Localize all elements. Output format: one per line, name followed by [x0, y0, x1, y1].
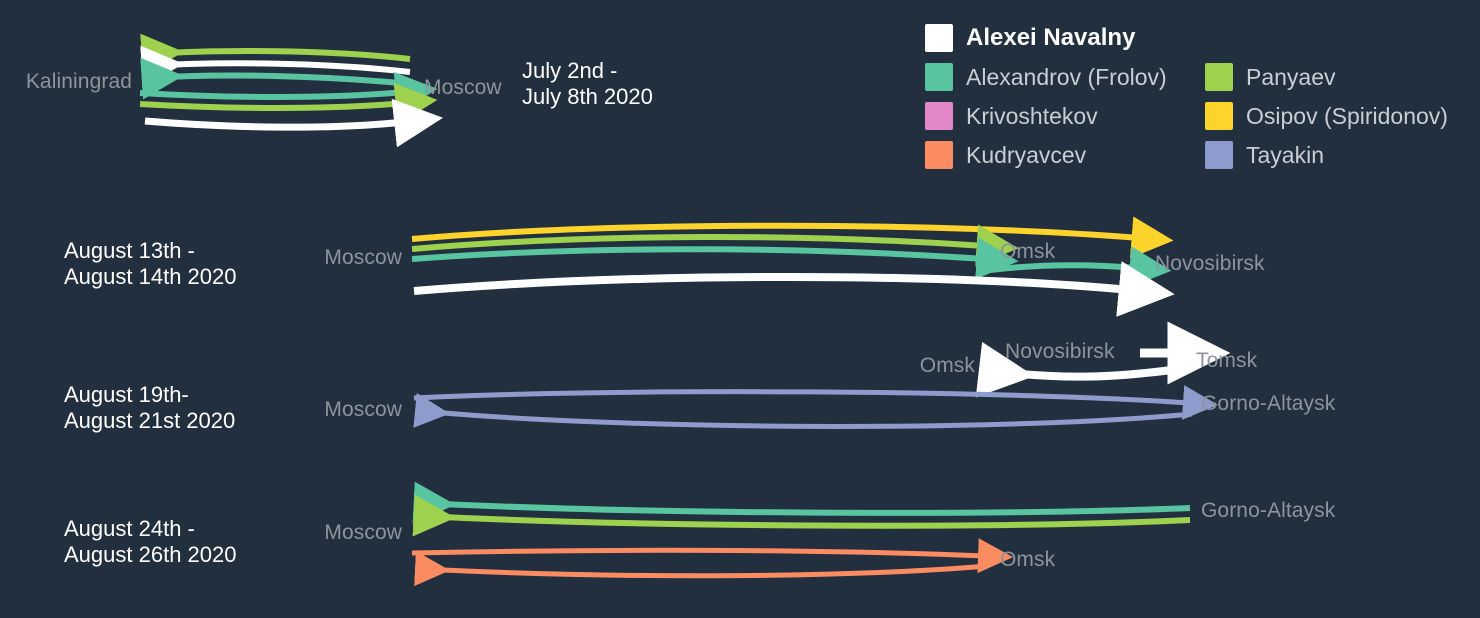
- period-line-1: August 13th -: [64, 238, 236, 264]
- legend-label-alexandrov-frolov: Alexandrov (Frolov): [966, 64, 1167, 91]
- legend-item-kudryavcev[interactable]: Kudryavcev: [925, 141, 1205, 169]
- flight-arrow-kudryavcev-moscow-omsk: [412, 550, 985, 556]
- legend-swatch-alexei-navalny: [925, 24, 953, 52]
- legend-swatch-tayakin: [1205, 141, 1233, 169]
- flight-arrow-panyaev-gornoaltaysk-moscow: [422, 516, 1190, 526]
- legend-swatch-kudryavcev: [925, 141, 953, 169]
- period-line-2: August 26th 2020: [64, 542, 236, 568]
- period-line-2: July 8th 2020: [522, 84, 653, 110]
- period-label-august-24: August 24th - August 26th 2020: [64, 516, 236, 568]
- legend-label-kudryavcev: Kudryavcev: [966, 142, 1086, 169]
- flight-timeline-chart: Kaliningrad Moscow Moscow Omsk Novosibir…: [0, 0, 1480, 618]
- city-label-moscow-row1: Moscow: [424, 76, 502, 100]
- legend-label-krivoshtekov: Krivoshtekov: [966, 103, 1098, 130]
- legend-swatch-alexandrov-frolov: [925, 63, 953, 91]
- city-label-gornoaltaysk-row4: Gorno-Altaysk: [1201, 499, 1335, 523]
- legend-item-tayakin[interactable]: Tayakin: [1205, 141, 1324, 169]
- flight-group-august-24: [412, 503, 1190, 576]
- flight-arrow-kudryavcev-omsk-moscow: [422, 566, 988, 576]
- legend-item-alexandrov-frolov[interactable]: Alexandrov (Frolov): [925, 63, 1205, 91]
- period-label-august-13: August 13th - August 14th 2020: [64, 238, 236, 290]
- city-label-moscow-row3: Moscow: [324, 398, 402, 422]
- period-line-2: August 21st 2020: [64, 408, 235, 434]
- legend-label-alexei-navalny: Alexei Navalny: [966, 24, 1135, 52]
- period-label-august-19: August 19th- August 21st 2020: [64, 382, 235, 434]
- flight-arrow-panyaev-kaliningrad-moscow: [140, 103, 404, 108]
- city-label-omsk-row4: Omsk: [1000, 548, 1055, 572]
- legend-item-osipov-spiridonov[interactable]: Osipov (Spiridonov): [1205, 102, 1448, 130]
- city-label-kaliningrad: Kaliningrad: [26, 70, 132, 94]
- legend-swatch-krivoshtekov: [925, 102, 953, 130]
- flight-arrow-alexandrov-moscow-kaliningrad: [150, 76, 410, 84]
- flight-arrow-alexandrov-kaliningrad-moscow: [140, 92, 404, 97]
- legend-swatch-osipov-spiridonov: [1205, 102, 1233, 130]
- legend-item-panyaev[interactable]: Panyaev: [1205, 63, 1336, 91]
- period-line-1: August 19th-: [64, 382, 235, 408]
- legend-row-1: Alexandrov (Frolov) Panyaev: [925, 63, 1465, 102]
- flight-arrow-navalny-moscow-kaliningrad: [150, 63, 410, 72]
- legend-label-tayakin: Tayakin: [1246, 142, 1324, 169]
- flight-arrow-alexandrov-omsk-novosibirsk: [990, 265, 1138, 270]
- flight-arrow-navalny-moscow-novosibirsk: [414, 277, 1130, 291]
- flight-arrow-alexandrov-gornoaltaysk-moscow: [422, 503, 1190, 513]
- flight-arrow-alexandrov-moscow-omsk: [412, 249, 985, 259]
- legend-item-krivoshtekov[interactable]: Krivoshtekov: [925, 102, 1205, 130]
- city-label-omsk-row2: Omsk: [1000, 240, 1055, 264]
- flight-arrow-tayakin-gornoaltaysk-moscow: [422, 411, 1192, 426]
- legend-label-panyaev: Panyaev: [1246, 64, 1336, 91]
- legend-label-osipov-spiridonov: Osipov (Spiridonov): [1246, 103, 1448, 130]
- legend-row-2: Krivoshtekov Osipov (Spiridonov): [925, 102, 1465, 141]
- legend-item-alexei-navalny[interactable]: Alexei Navalny: [925, 24, 1465, 52]
- flight-group-august-19: [414, 353, 1192, 426]
- flight-arrow-navalny-tomsk-omsk: [990, 368, 1186, 377]
- city-label-novosibirsk-row3: Novosibirsk: [1005, 340, 1115, 364]
- period-label-july: July 2nd - July 8th 2020: [522, 58, 653, 110]
- legend-swatch-panyaev: [1205, 63, 1233, 91]
- period-line-1: July 2nd -: [522, 58, 653, 84]
- legend: Alexei Navalny Alexandrov (Frolov) Panya…: [925, 24, 1465, 180]
- legend-row-3: Kudryavcev Tayakin: [925, 141, 1465, 180]
- city-label-moscow-row2: Moscow: [324, 246, 402, 270]
- period-line-2: August 14th 2020: [64, 264, 236, 290]
- city-label-gornoaltaysk-row3: Gorno-Altaysk: [1201, 392, 1335, 416]
- flight-arrow-tayakin-moscow-gornoaltaysk: [414, 392, 1190, 403]
- flight-arrow-panyaev-moscow-kaliningrad: [150, 51, 410, 59]
- city-label-moscow-row4: Moscow: [324, 521, 402, 545]
- city-label-novosibirsk-row2: Novosibirsk: [1155, 252, 1265, 276]
- period-line-1: August 24th -: [64, 516, 236, 542]
- city-label-tomsk-row3: Tomsk: [1196, 349, 1257, 373]
- flight-group-july: [140, 51, 410, 127]
- flight-arrow-navalny-kaliningrad-moscow: [145, 121, 404, 127]
- city-label-omsk-row3: Omsk: [920, 354, 975, 378]
